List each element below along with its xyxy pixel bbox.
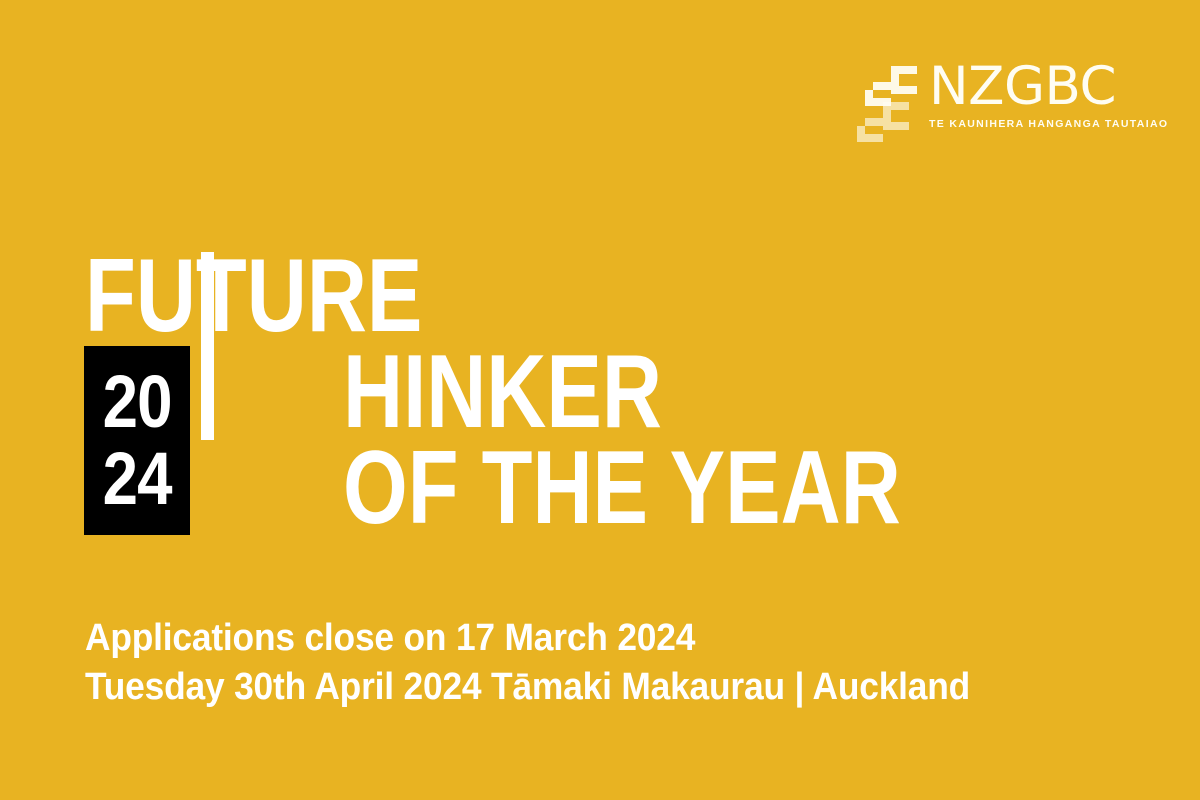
headline-line-of-the-year: OF THE YEAR <box>343 436 901 540</box>
year-badge: 20 24 <box>84 346 190 535</box>
nzgbc-stepped-mark-icon <box>857 64 919 142</box>
t-stem-connector <box>201 252 214 440</box>
year-badge-top: 20 <box>102 368 171 436</box>
nzgbc-tagline: TE KAUNIHERA HANGANGA TAUTAIAO <box>929 118 1168 130</box>
year-badge-bottom: 24 <box>102 445 171 513</box>
nzgbc-logo[interactable]: NZGBC TE KAUNIHERA HANGANGA TAUTAIAO <box>857 62 1168 142</box>
event-details: Applications close on 17 March 2024 Tues… <box>85 614 1037 711</box>
future-thinker-of-the-year-poster: NZGBC TE KAUNIHERA HANGANGA TAUTAIAO FUT… <box>0 0 1200 800</box>
nzgbc-wordmark: NZGBC <box>929 62 1116 112</box>
nzgbc-logo-text: NZGBC TE KAUNIHERA HANGANGA TAUTAIAO <box>929 62 1168 130</box>
headline: FUTURE HINKER OF THE YEAR <box>85 244 1085 544</box>
headline-line-future: FUTURE <box>85 244 422 348</box>
headline-line-thinker: HINKER <box>343 340 662 444</box>
applications-close-line: Applications close on 17 March 2024 <box>85 614 970 663</box>
event-date-location-line: Tuesday 30th April 2024 Tāmaki Makaurau … <box>85 663 970 712</box>
